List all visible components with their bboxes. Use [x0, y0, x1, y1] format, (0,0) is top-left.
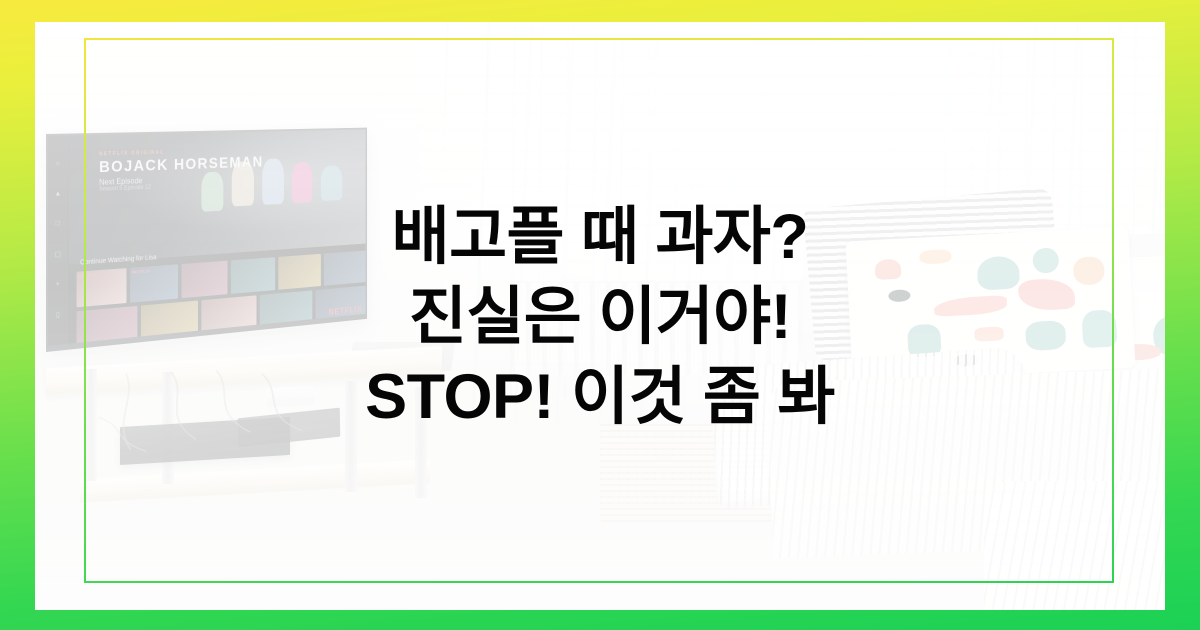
living-room-scene: ○ ▲ □ ▢ + ▯ — [35, 22, 1165, 610]
netflix-tile — [182, 261, 228, 298]
film-icon: ▢ — [55, 250, 61, 258]
tv-screen: ○ ▲ □ ▢ + ▯ — [48, 129, 365, 345]
netflix-tile — [202, 295, 257, 333]
netflix-tile — [141, 300, 199, 339]
sofa-armrest — [984, 481, 1165, 610]
netflix-original-badge: NETFLIX ORIGINAL — [99, 149, 164, 157]
netflix-tile-badge: NETFLIX — [79, 272, 98, 278]
netflix-tile — [279, 254, 322, 290]
downloads-icon: ▯ — [56, 311, 60, 319]
netflix-tile — [260, 290, 312, 327]
home-icon: ▲ — [55, 190, 62, 197]
netflix-tile: NETFLIX — [130, 264, 178, 302]
netflix-hero-banner: NETFLIX ORIGINAL BOJACK HORSEMAN Next Ep… — [70, 129, 366, 264]
plus-icon: + — [56, 281, 60, 288]
netflix-tile — [325, 251, 366, 286]
television: ○ ▲ □ ▢ + ▯ — [46, 127, 367, 351]
netflix-wordmark: NETFLIX — [329, 304, 363, 316]
netflix-tile — [77, 306, 138, 345]
netflix-tile: NETFLIX — [77, 268, 127, 307]
tv-icon: □ — [56, 220, 60, 227]
photo-plate: ○ ▲ □ ▢ + ▯ — [35, 22, 1165, 610]
netflix-sidebar: ○ ▲ □ ▢ + ▯ — [48, 135, 68, 345]
thumbnail-card: ○ ▲ □ ▢ + ▯ — [0, 0, 1200, 630]
tv-stand-leg — [415, 387, 427, 499]
netflix-tile — [231, 257, 275, 293]
netflix-tile: NETFLIX — [316, 285, 366, 321]
cables — [92, 369, 386, 457]
netflix-episode-number: Season 5 Episode 12 — [99, 185, 151, 193]
search-icon: ○ — [56, 160, 60, 167]
netflix-tile-badge: NETFLIX — [132, 268, 150, 274]
